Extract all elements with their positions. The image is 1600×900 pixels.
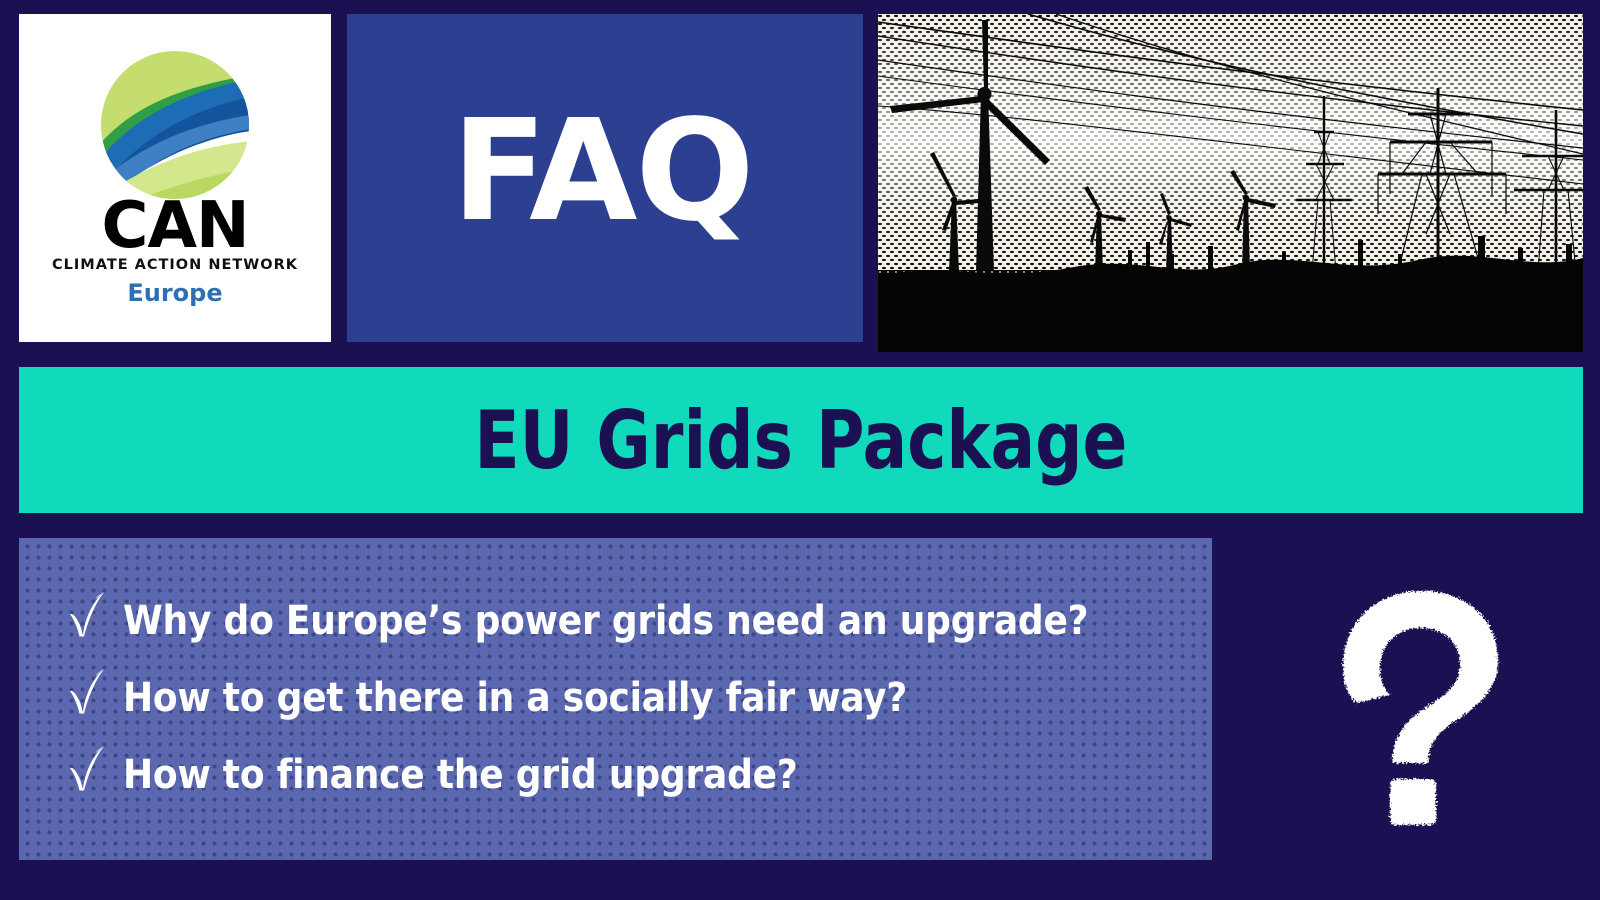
- check-mark-icon: [67, 667, 107, 715]
- can-globe-logo-icon: [99, 49, 251, 201]
- can-logo-panel: CAN CLIMATE ACTION NETWORK Europe: [19, 14, 331, 342]
- question-text: Why do Europe’s power grids need an upgr…: [123, 600, 1088, 642]
- list-item: Why do Europe’s power grids need an upgr…: [67, 586, 1192, 642]
- wind-turbine-halftone-image: [878, 14, 1583, 352]
- check-mark-icon: [67, 744, 107, 792]
- can-acronym: CAN: [101, 199, 248, 254]
- faq-label: FAQ: [452, 102, 753, 242]
- question-text: How to finance the grid upgrade?: [123, 754, 798, 796]
- check-mark-icon: [67, 590, 107, 638]
- questions-list: Why do Europe’s power grids need an upgr…: [67, 586, 1192, 796]
- faq-poster: CAN CLIMATE ACTION NETWORK Europe FAQ: [0, 0, 1600, 900]
- faq-title-panel: FAQ: [347, 14, 863, 342]
- question-mark-icon: [1288, 567, 1556, 844]
- can-subtitle: CLIMATE ACTION NETWORK: [52, 257, 298, 273]
- list-item: How to get there in a socially fair way?: [67, 663, 1192, 719]
- banner-title: EU Grids Package: [474, 394, 1127, 487]
- questions-panel: Why do Europe’s power grids need an upgr…: [19, 538, 1212, 860]
- can-region: Europe: [127, 279, 222, 307]
- list-item: How to finance the grid upgrade?: [67, 740, 1192, 796]
- question-text: How to get there in a socially fair way?: [123, 677, 907, 719]
- eu-grids-package-banner: EU Grids Package: [19, 367, 1583, 513]
